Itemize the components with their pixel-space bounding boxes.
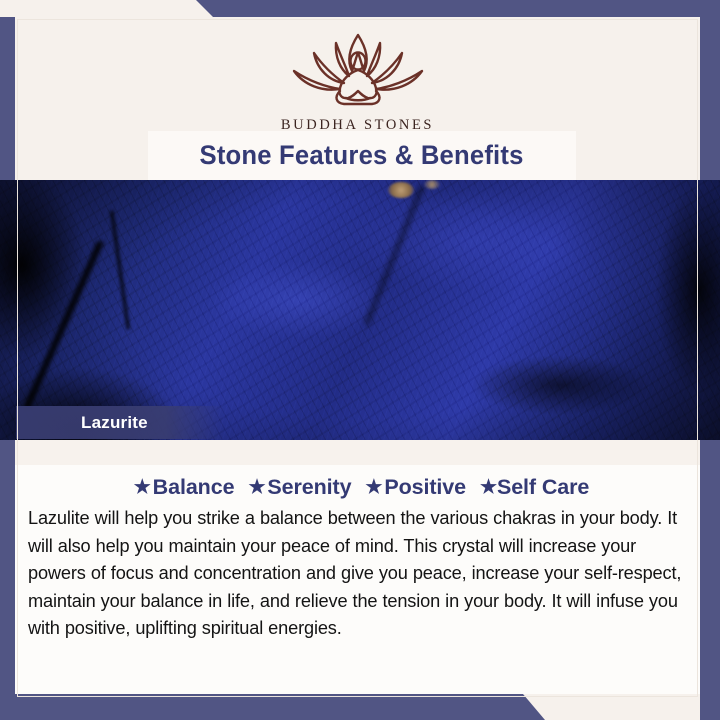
- benefit-item-serenity: Serenity: [267, 475, 351, 499]
- star-icon: ★: [365, 477, 382, 498]
- title-banner: Stone Features & Benefits: [148, 131, 576, 180]
- frame-bottom-accent: [0, 694, 720, 720]
- stone-feature-card: BUDDHA STONES Stone Features & Benefits …: [0, 0, 720, 720]
- page-title: Stone Features & Benefits: [200, 140, 524, 171]
- card-top-strip: [15, 440, 700, 465]
- stone-name-chip: Lazurite: [16, 406, 224, 439]
- star-icon: ★: [248, 477, 265, 498]
- benefit-item-positive: Positive: [384, 475, 466, 499]
- star-icon: ★: [480, 477, 497, 498]
- brand-logo: BUDDHA STONES: [15, 27, 700, 134]
- benefits-list: ★Balance★Serenity★Positive★Self Care: [15, 475, 700, 500]
- stone-photo: [0, 180, 720, 440]
- stone-description: Lazulite will help you strike a balance …: [28, 505, 696, 643]
- photo-vignette: [0, 180, 720, 440]
- benefit-item-self-care: Self Care: [497, 475, 589, 499]
- star-icon: ★: [134, 477, 151, 498]
- description-card: ★Balance★Serenity★Positive★Self Care Laz…: [15, 465, 700, 694]
- frame-top-accent: [0, 0, 720, 17]
- stone-name-label: Lazurite: [81, 413, 148, 433]
- lotus-meditation-icon: [278, 27, 438, 115]
- benefit-item-balance: Balance: [153, 475, 235, 499]
